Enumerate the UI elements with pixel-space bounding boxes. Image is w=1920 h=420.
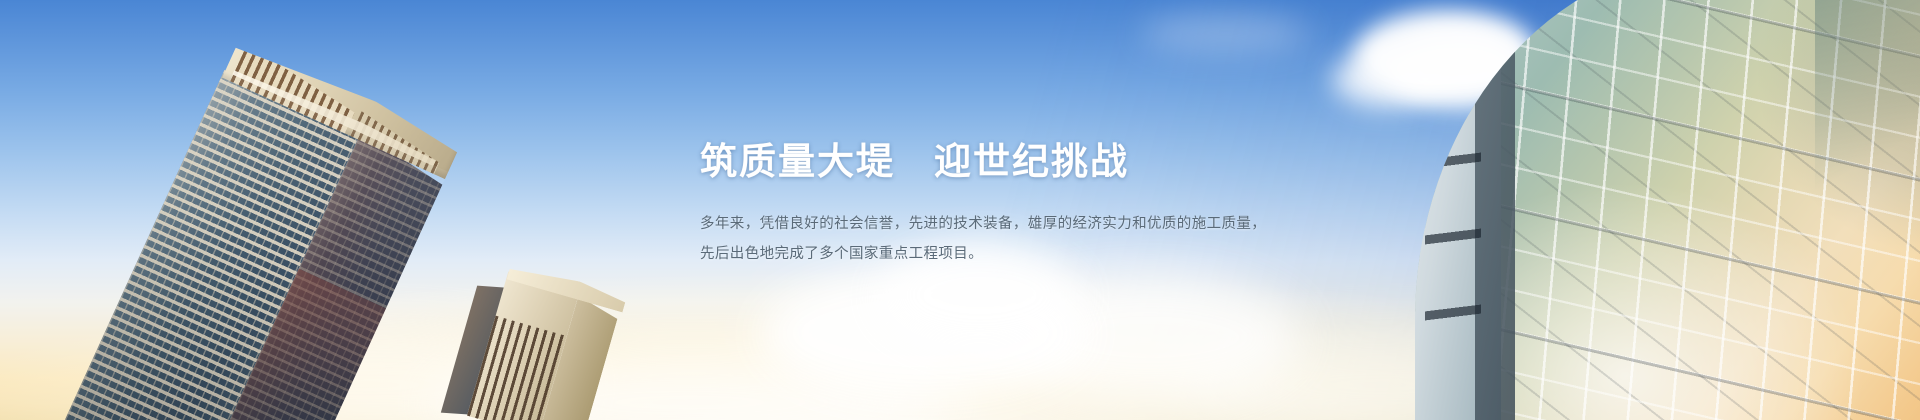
- cloud-wisp-top: [1140, 14, 1310, 52]
- banner-headline: 筑质量大堤 迎世纪挑战: [700, 140, 1320, 184]
- right-curved-glass-tower: [1415, 0, 1920, 420]
- banner-subtitle-line-2: 先后出色地完成了多个国家重点工程项目。: [700, 240, 1320, 270]
- banner-subtitle-line-1: 多年来，凭借良好的社会信誉，先进的技术装备，雄厚的经济实力和优质的施工质量，: [700, 210, 1320, 240]
- hero-banner: 筑质量大堤 迎世纪挑战 多年来，凭借良好的社会信誉，先进的技术装备，雄厚的经济实…: [0, 0, 1920, 420]
- right-tower-inner-rim: [1475, 0, 1515, 420]
- banner-copy: 筑质量大堤 迎世纪挑战 多年来，凭借良好的社会信誉，先进的技术装备，雄厚的经济实…: [700, 140, 1320, 270]
- right-tower-reflections: [1815, 0, 1920, 280]
- banner-subtitle: 多年来，凭借良好的社会信誉，先进的技术装备，雄厚的经济实力和优质的施工质量， 先…: [700, 210, 1320, 269]
